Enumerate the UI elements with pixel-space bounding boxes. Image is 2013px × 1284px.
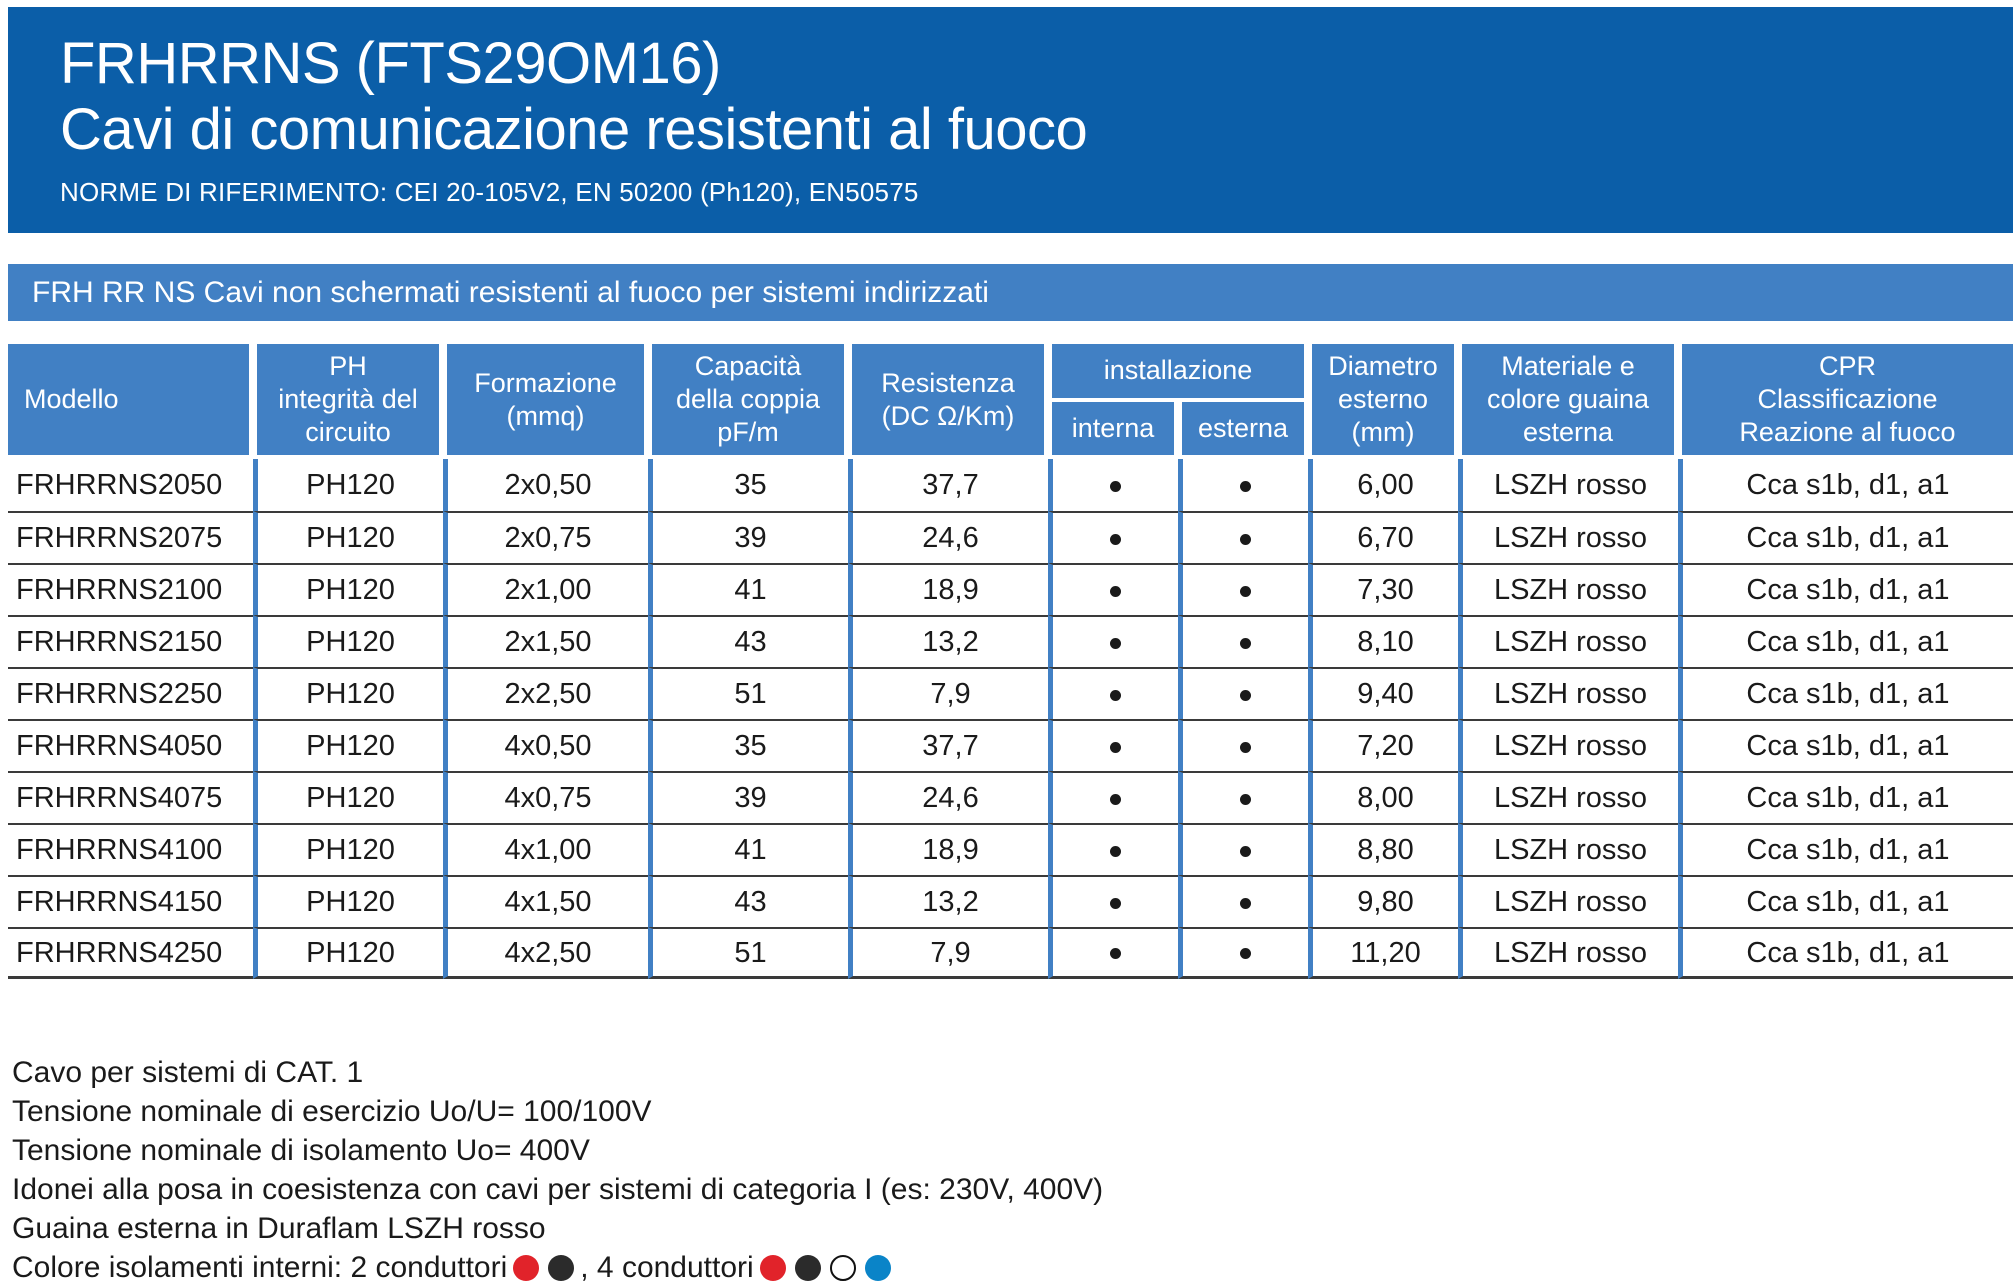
table-row: FRHRRNS4150PH1204x1,504313,29,80LSZH ros…: [8, 875, 2013, 927]
cell-diametro: 8,00: [1308, 771, 1458, 823]
cell-diametro: 8,10: [1308, 615, 1458, 667]
cell-ph: PH120: [253, 927, 443, 979]
cell-capacita: 51: [648, 927, 848, 979]
cell-esterna: [1178, 927, 1308, 979]
cell-resistenza: 13,2: [848, 615, 1048, 667]
product-banner: FRHRRNS (FTS29OM16) Cavi di comunicazion…: [8, 7, 2013, 233]
table-header-row-primary: Modello PH integrità del circuito Formaz…: [8, 344, 2013, 402]
installation-dot-icon: [1240, 794, 1251, 805]
cell-capacita: 39: [648, 511, 848, 563]
section-subheader-label: FRH RR NS Cavi non schermati resistenti …: [32, 276, 989, 310]
cell-resistenza: 7,9: [848, 667, 1048, 719]
col-header-materiale: Materiale e colore guaina esterna: [1458, 344, 1678, 459]
cell-diametro: 6,70: [1308, 511, 1458, 563]
spec-table-wrapper: Modello PH integrità del circuito Formaz…: [8, 344, 2013, 979]
col-header-ph: PH integrità del circuito: [253, 344, 443, 459]
cell-interna: [1048, 563, 1178, 615]
installation-dot-icon: [1110, 690, 1121, 701]
conductor-color-swatch: [795, 1255, 821, 1281]
cell-formazione: 2x2,50: [443, 667, 648, 719]
installation-dot-icon: [1110, 742, 1121, 753]
cell-modello: FRHRRNS2250: [8, 667, 253, 719]
cell-esterna: [1178, 771, 1308, 823]
cell-ph: PH120: [253, 875, 443, 927]
cell-cpr: Cca s1b, d1, a1: [1678, 771, 2013, 823]
conductor-color-swatch: [760, 1255, 786, 1281]
conductor-colors-middle: , 4 conduttori: [580, 1248, 753, 1284]
cell-modello: FRHRRNS2075: [8, 511, 253, 563]
installation-dot-icon: [1240, 690, 1251, 701]
cell-formazione: 4x2,50: [443, 927, 648, 979]
col-header-modello: Modello: [8, 344, 253, 459]
conductor-swatches-2: [513, 1255, 574, 1281]
note-line-2: Tensione nominale di esercizio Uo/U= 100…: [12, 1092, 2013, 1131]
section-subheader: FRH RR NS Cavi non schermati resistenti …: [8, 264, 2013, 321]
conductor-colors-prefix: Colore isolamenti interni: 2 conduttori: [12, 1248, 507, 1284]
cell-diametro: 7,20: [1308, 719, 1458, 771]
cell-modello: FRHRRNS2050: [8, 459, 253, 511]
cell-materiale: LSZH rosso: [1458, 823, 1678, 875]
cell-ph: PH120: [253, 563, 443, 615]
col-header-resistenza: Resistenza (DC Ω/Km): [848, 344, 1048, 459]
cell-cpr: Cca s1b, d1, a1: [1678, 927, 2013, 979]
cell-interna: [1048, 771, 1178, 823]
cell-interna: [1048, 719, 1178, 771]
cell-materiale: LSZH rosso: [1458, 875, 1678, 927]
col-header-capacita: Capacità della coppia pF/m: [648, 344, 848, 459]
installation-dot-icon: [1240, 898, 1251, 909]
conductor-color-swatch: [830, 1255, 856, 1281]
cell-capacita: 43: [648, 875, 848, 927]
cell-esterna: [1178, 563, 1308, 615]
reference-norms: NORME DI RIFERIMENTO: CEI 20-105V2, EN 5…: [60, 175, 2013, 209]
installation-dot-icon: [1110, 846, 1121, 857]
cell-capacita: 39: [648, 771, 848, 823]
cell-formazione: 2x1,00: [443, 563, 648, 615]
cell-modello: FRHRRNS4050: [8, 719, 253, 771]
cell-diametro: 9,80: [1308, 875, 1458, 927]
cell-materiale: LSZH rosso: [1458, 615, 1678, 667]
cell-resistenza: 37,7: [848, 459, 1048, 511]
cell-interna: [1048, 875, 1178, 927]
cell-esterna: [1178, 719, 1308, 771]
cell-formazione: 4x1,00: [443, 823, 648, 875]
cell-cpr: Cca s1b, d1, a1: [1678, 563, 2013, 615]
cell-diametro: 11,20: [1308, 927, 1458, 979]
table-row: FRHRRNS4075PH1204x0,753924,68,00LSZH ros…: [8, 771, 2013, 823]
installation-dot-icon: [1240, 638, 1251, 649]
cell-esterna: [1178, 615, 1308, 667]
cell-formazione: 2x0,50: [443, 459, 648, 511]
cell-formazione: 4x0,50: [443, 719, 648, 771]
cell-materiale: LSZH rosso: [1458, 771, 1678, 823]
table-row: FRHRRNS4250PH1204x2,50517,911,20LSZH ros…: [8, 927, 2013, 979]
cell-interna: [1048, 667, 1178, 719]
cell-modello: FRHRRNS2100: [8, 563, 253, 615]
note-line-6: Colore isolamenti interni: 2 conduttori …: [12, 1248, 2013, 1284]
cell-resistenza: 24,6: [848, 771, 1048, 823]
cell-esterna: [1178, 823, 1308, 875]
cell-materiale: LSZH rosso: [1458, 563, 1678, 615]
cell-interna: [1048, 615, 1178, 667]
conductor-swatches-4: [760, 1255, 891, 1281]
cell-ph: PH120: [253, 823, 443, 875]
cell-interna: [1048, 823, 1178, 875]
cell-diametro: 6,00: [1308, 459, 1458, 511]
installation-dot-icon: [1240, 742, 1251, 753]
cell-cpr: Cca s1b, d1, a1: [1678, 615, 2013, 667]
cell-resistenza: 37,7: [848, 719, 1048, 771]
note-line-4: Idonei alla posa in coesistenza con cavi…: [12, 1170, 2013, 1209]
cell-materiale: LSZH rosso: [1458, 459, 1678, 511]
note-line-5: Guaina esterna in Duraflam LSZH rosso: [12, 1209, 2013, 1248]
cell-modello: FRHRRNS4150: [8, 875, 253, 927]
cell-cpr: Cca s1b, d1, a1: [1678, 511, 2013, 563]
cell-cpr: Cca s1b, d1, a1: [1678, 459, 2013, 511]
cell-modello: FRHRRNS2150: [8, 615, 253, 667]
installation-dot-icon: [1110, 481, 1121, 492]
col-header-installazione: installazione: [1048, 344, 1308, 402]
cell-ph: PH120: [253, 719, 443, 771]
table-row: FRHRRNS2150PH1202x1,504313,28,10LSZH ros…: [8, 615, 2013, 667]
table-row: FRHRRNS2250PH1202x2,50517,99,40LSZH ross…: [8, 667, 2013, 719]
spec-table: Modello PH integrità del circuito Formaz…: [8, 344, 2013, 979]
cell-formazione: 2x0,75: [443, 511, 648, 563]
cell-interna: [1048, 511, 1178, 563]
cell-capacita: 35: [648, 459, 848, 511]
cell-capacita: 41: [648, 563, 848, 615]
table-row: FRHRRNS2050PH1202x0,503537,76,00LSZH ros…: [8, 459, 2013, 511]
table-row: FRHRRNS4100PH1204x1,004118,98,80LSZH ros…: [8, 823, 2013, 875]
product-code: FRHRRNS (FTS29OM16): [60, 31, 2013, 97]
installation-dot-icon: [1240, 948, 1251, 959]
cell-cpr: Cca s1b, d1, a1: [1678, 823, 2013, 875]
cell-cpr: Cca s1b, d1, a1: [1678, 667, 2013, 719]
cell-materiale: LSZH rosso: [1458, 927, 1678, 979]
col-header-formazione: Formazione (mmq): [443, 344, 648, 459]
cell-diametro: 9,40: [1308, 667, 1458, 719]
installation-dot-icon: [1110, 898, 1121, 909]
installation-dot-icon: [1240, 481, 1251, 492]
installation-dot-icon: [1110, 948, 1121, 959]
cell-ph: PH120: [253, 615, 443, 667]
cell-capacita: 51: [648, 667, 848, 719]
cell-esterna: [1178, 875, 1308, 927]
table-row: FRHRRNS2075PH1202x0,753924,66,70LSZH ros…: [8, 511, 2013, 563]
cell-esterna: [1178, 667, 1308, 719]
spec-table-body: FRHRRNS2050PH1202x0,503537,76,00LSZH ros…: [8, 459, 2013, 979]
cell-materiale: LSZH rosso: [1458, 667, 1678, 719]
cell-ph: PH120: [253, 511, 443, 563]
cell-formazione: 2x1,50: [443, 615, 648, 667]
installation-dot-icon: [1110, 586, 1121, 597]
footer-notes: Cavo per sistemi di CAT. 1 Tensione nomi…: [8, 1053, 2013, 1284]
cell-esterna: [1178, 511, 1308, 563]
installation-dot-icon: [1240, 586, 1251, 597]
conductor-color-swatch: [548, 1255, 574, 1281]
cell-modello: FRHRRNS4100: [8, 823, 253, 875]
col-header-installazione-interna: interna: [1048, 402, 1178, 460]
conductor-color-swatch: [865, 1255, 891, 1281]
cell-capacita: 41: [648, 823, 848, 875]
table-row: FRHRRNS4050PH1204x0,503537,77,20LSZH ros…: [8, 719, 2013, 771]
cell-resistenza: 7,9: [848, 927, 1048, 979]
product-name: Cavi di comunicazione resistenti al fuoc…: [60, 97, 2013, 163]
cell-resistenza: 13,2: [848, 875, 1048, 927]
cell-resistenza: 18,9: [848, 823, 1048, 875]
cell-esterna: [1178, 459, 1308, 511]
cell-formazione: 4x0,75: [443, 771, 648, 823]
cell-resistenza: 18,9: [848, 563, 1048, 615]
cell-ph: PH120: [253, 667, 443, 719]
col-header-installazione-esterna: esterna: [1178, 402, 1308, 460]
cell-capacita: 43: [648, 615, 848, 667]
installation-dot-icon: [1240, 534, 1251, 545]
table-row: FRHRRNS2100PH1202x1,004118,97,30LSZH ros…: [8, 563, 2013, 615]
installation-dot-icon: [1110, 794, 1121, 805]
cell-formazione: 4x1,50: [443, 875, 648, 927]
col-header-diametro: Diametro esterno (mm): [1308, 344, 1458, 459]
conductor-color-swatch: [513, 1255, 539, 1281]
cell-interna: [1048, 927, 1178, 979]
installation-dot-icon: [1240, 846, 1251, 857]
cell-modello: FRHRRNS4075: [8, 771, 253, 823]
cell-diametro: 7,30: [1308, 563, 1458, 615]
cell-modello: FRHRRNS4250: [8, 927, 253, 979]
cell-cpr: Cca s1b, d1, a1: [1678, 875, 2013, 927]
col-header-cpr: CPR Classificazione Reazione al fuoco: [1678, 344, 2013, 459]
installation-dot-icon: [1110, 638, 1121, 649]
cell-capacita: 35: [648, 719, 848, 771]
cell-resistenza: 24,6: [848, 511, 1048, 563]
cell-ph: PH120: [253, 459, 443, 511]
cell-cpr: Cca s1b, d1, a1: [1678, 719, 2013, 771]
note-line-1: Cavo per sistemi di CAT. 1: [12, 1053, 2013, 1092]
cell-ph: PH120: [253, 771, 443, 823]
cell-materiale: LSZH rosso: [1458, 719, 1678, 771]
cell-interna: [1048, 459, 1178, 511]
installation-dot-icon: [1110, 534, 1121, 545]
note-line-3: Tensione nominale di isolamento Uo= 400V: [12, 1131, 2013, 1170]
cell-diametro: 8,80: [1308, 823, 1458, 875]
datasheet-page: FRHRRNS (FTS29OM16) Cavi di comunicazion…: [0, 0, 2013, 1284]
cell-materiale: LSZH rosso: [1458, 511, 1678, 563]
